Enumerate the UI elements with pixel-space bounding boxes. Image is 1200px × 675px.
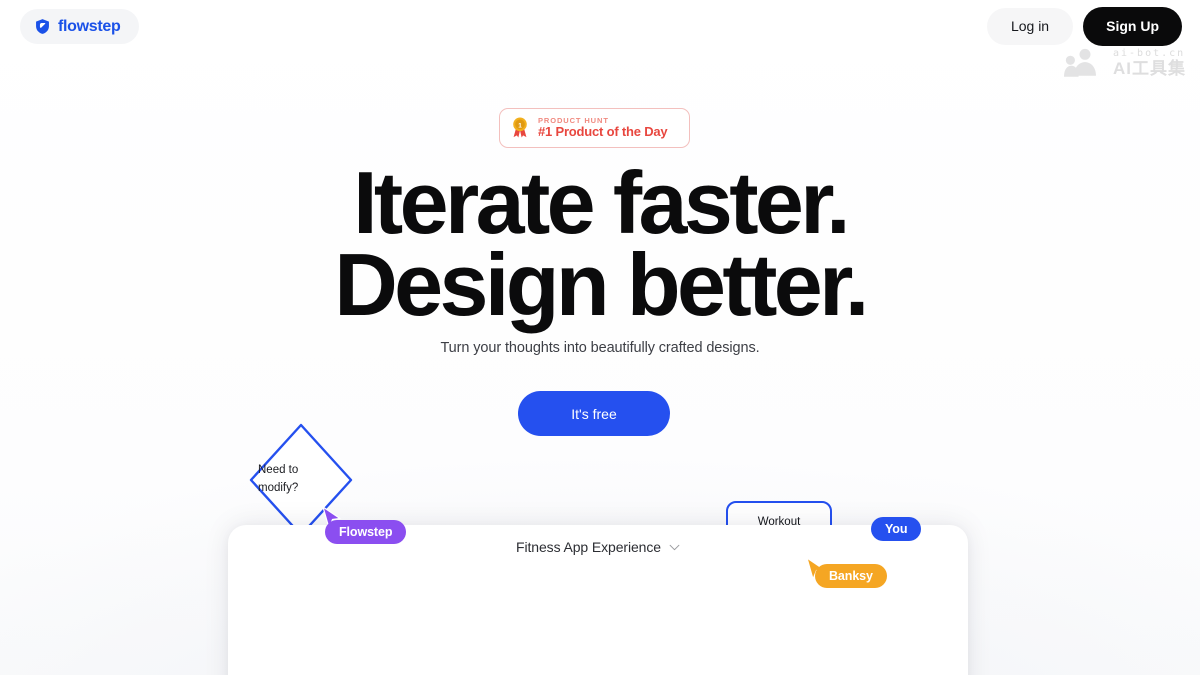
headline-line-2: Design better.: [0, 244, 1200, 326]
product-hunt-badge[interactable]: 1 PRODUCT HUNT #1 Product of the Day: [499, 108, 690, 148]
cursor-label-flowstep: Flowstep: [325, 520, 406, 544]
watermark-logo-icon: [1064, 48, 1106, 78]
watermark-title: AI工具集: [1113, 60, 1186, 78]
medal-icon: 1: [510, 117, 530, 139]
brand-logo[interactable]: flowstep: [20, 9, 139, 44]
decision-line-1: Need to: [258, 462, 354, 480]
chevron-down-icon[interactable]: [669, 544, 680, 551]
brand-name: flowstep: [58, 18, 121, 36]
headline-line-1: Iterate faster.: [0, 162, 1200, 244]
its-free-button[interactable]: It's free: [518, 391, 670, 436]
decision-line-2: modify?: [258, 480, 354, 498]
header-actions: Log in Sign Up: [987, 7, 1182, 46]
canvas-title: Fitness App Experience: [516, 539, 661, 555]
watermark-domain: ai-bot.cn: [1113, 49, 1186, 59]
page-title: Iterate faster. Design better.: [0, 162, 1200, 326]
badge-kicker: PRODUCT HUNT: [538, 117, 667, 125]
canvas-card: Fitness App Experience: [228, 525, 968, 675]
cursor-label-banksy: Banksy: [815, 564, 887, 588]
svg-text:1: 1: [518, 122, 522, 129]
shield-logo-icon: [34, 18, 51, 35]
cursor-label-you: You: [871, 517, 921, 541]
hero-subtitle: Turn your thoughts into beautifully craf…: [0, 340, 1200, 356]
landing-page: flowstep Log in Sign Up ai-bot.cn AI工具集: [0, 0, 1200, 675]
watermark: ai-bot.cn AI工具集: [1064, 48, 1186, 78]
login-button[interactable]: Log in: [987, 8, 1073, 45]
signup-button[interactable]: Sign Up: [1083, 7, 1182, 46]
badge-title: #1 Product of the Day: [538, 125, 667, 139]
